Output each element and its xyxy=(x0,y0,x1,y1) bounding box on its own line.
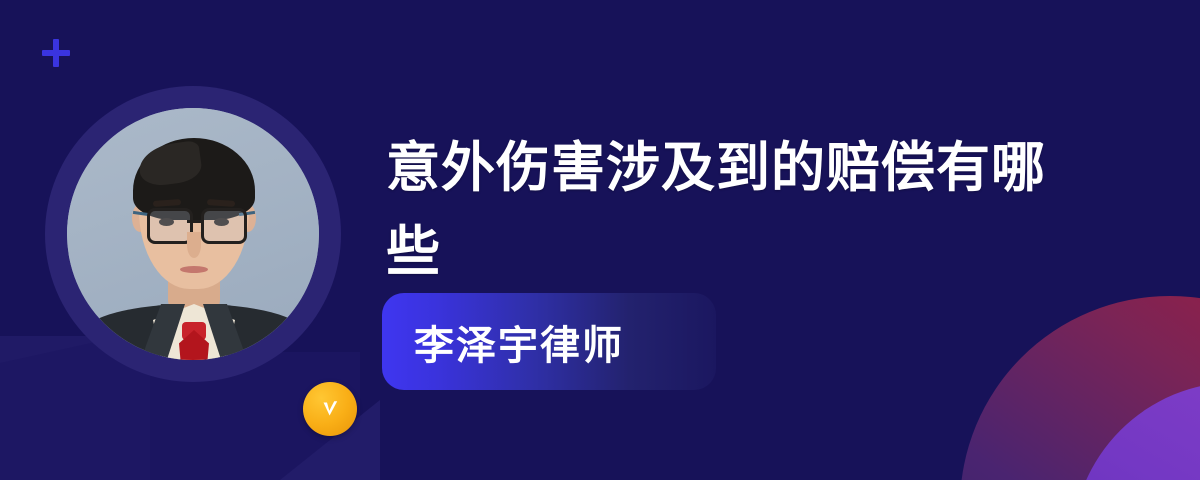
lawyer-qa-banner: 意外伤害涉及到的赔偿有哪些 李泽宇律师 xyxy=(0,0,1200,480)
decorative-circle-outer xyxy=(960,296,1200,480)
lawyer-portrait-illustration xyxy=(67,108,319,360)
lawyer-name-button[interactable]: 李泽宇律师 xyxy=(382,293,716,390)
verified-badge-icon xyxy=(303,382,357,436)
avatar-photo xyxy=(67,108,319,360)
content-block: 意外伤害涉及到的赔偿有哪些 xyxy=(386,126,1086,294)
avatar xyxy=(45,86,341,382)
page-title: 意外伤害涉及到的赔偿有哪些 xyxy=(386,126,1058,294)
decorative-circle-inner xyxy=(1072,382,1200,480)
plus-icon xyxy=(42,39,70,67)
